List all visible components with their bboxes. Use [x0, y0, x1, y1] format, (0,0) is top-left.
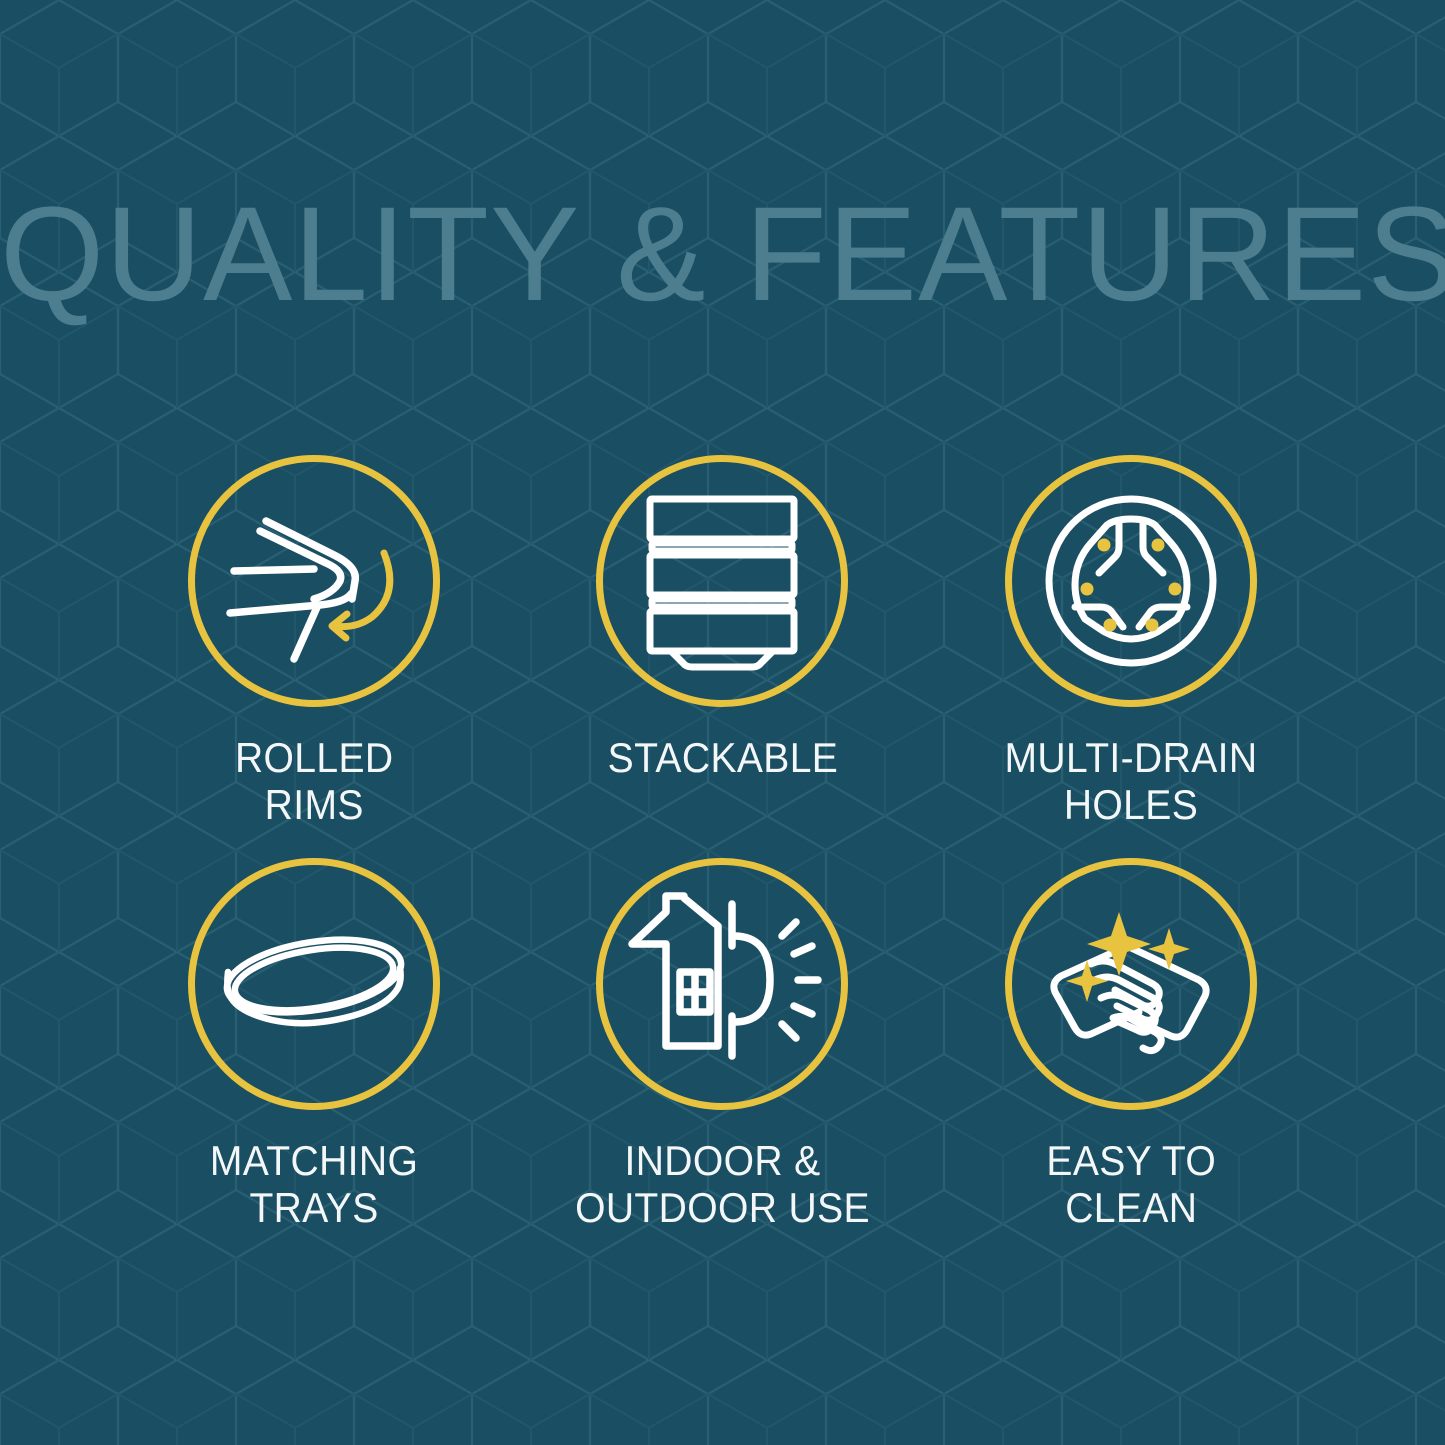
drain-holes-icon [1031, 481, 1231, 681]
house-sun-icon [622, 884, 822, 1084]
rolled-rim-icon [214, 481, 414, 681]
feature-label: INDOOR & OUTDOOR USE [575, 1137, 870, 1231]
feature-matching-trays: MATCHING TRAYS [110, 858, 518, 1261]
badge-rolled-rims [188, 455, 440, 707]
feature-label: STACKABLE [607, 734, 838, 781]
badge-easy-to-clean [1005, 858, 1257, 1110]
feature-label: EASY TO CLEAN [1046, 1137, 1216, 1231]
badge-indoor-outdoor-use [596, 858, 848, 1110]
stacked-pots-icon [622, 481, 822, 681]
feature-stackable: STACKABLE [518, 455, 926, 858]
feature-rolled-rims: ROLLED RIMS [110, 455, 518, 858]
feature-indoor-outdoor-use: INDOOR & OUTDOOR USE [518, 858, 926, 1261]
hand-wiping-sparkle-icon [1031, 884, 1231, 1084]
feature-grid: ROLLED RIMS STACKABLE [0, 455, 1445, 1261]
infographic-panel: QUALITY & FEATURES [0, 0, 1445, 1445]
badge-matching-trays [188, 858, 440, 1110]
feature-label: MULTI-DRAIN HOLES [1004, 734, 1257, 828]
feature-label: MATCHING TRAYS [210, 1137, 418, 1231]
saucer-tray-icon [214, 884, 414, 1084]
badge-stackable [596, 455, 848, 707]
feature-label: ROLLED RIMS [235, 734, 394, 828]
badge-multi-drain-holes [1005, 455, 1257, 707]
page-title: QUALITY & FEATURES [0, 188, 1445, 322]
feature-multi-drain-holes: MULTI-DRAIN HOLES [927, 455, 1335, 858]
feature-easy-to-clean: EASY TO CLEAN [927, 858, 1335, 1261]
